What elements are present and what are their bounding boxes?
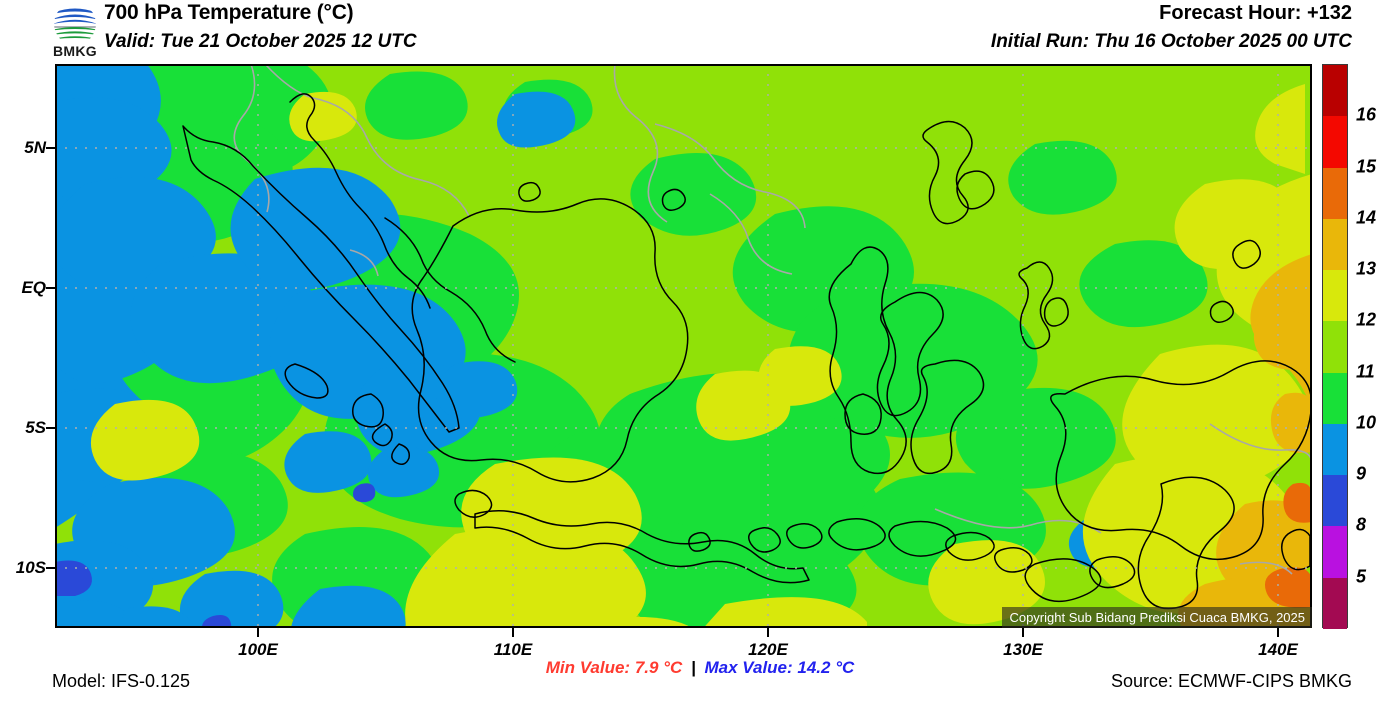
colorbar[interactable] <box>1322 64 1348 628</box>
model-label: Model: IFS-0.125 <box>52 671 190 692</box>
x-tick-140e <box>1277 628 1279 637</box>
colorbar-label-15: 15 <box>1356 156 1376 177</box>
y-tick-5s <box>46 427 55 429</box>
y-tick-label-eq: EQ <box>0 278 46 298</box>
bmkg-logo-icon <box>44 2 106 48</box>
y-tick-10s <box>46 567 55 569</box>
colorbar-label-13: 13 <box>1356 259 1376 280</box>
max-value-label: Max Value: 14.2 °C <box>704 658 854 677</box>
colorbar-band-12-13 <box>1323 270 1347 321</box>
colorbar-band-11-12 <box>1323 321 1347 372</box>
x-tick-label-110e: 110E <box>494 640 532 660</box>
colorbar-label-5: 5 <box>1356 566 1366 587</box>
bmkg-logo-label: BMKG <box>44 43 106 59</box>
min-max-separator: | <box>687 658 700 677</box>
colorbar-label-9: 9 <box>1356 464 1366 485</box>
colorbar-label-8: 8 <box>1356 515 1366 536</box>
colorbar-band-8-9 <box>1323 475 1347 526</box>
x-tick-label-100e: 100E <box>238 640 278 660</box>
colorbar-band-13-14 <box>1323 219 1347 270</box>
copyright-overlay: Copyright Sub Bidang Prediksi Cuaca BMKG… <box>1002 607 1312 628</box>
colorbar-band-10-11 <box>1323 373 1347 424</box>
colorbar-band-9-10 <box>1323 424 1347 475</box>
bmkg-logo: BMKG <box>44 2 106 58</box>
min-max-values: Min Value: 7.9 °C | Max Value: 14.2 °C <box>546 658 855 678</box>
colorbar-band-16-17 <box>1323 65 1347 116</box>
initial-run-label: Initial Run: Thu 16 October 2025 00 UTC <box>991 31 1352 53</box>
page-title: 700 hPa Temperature (°C) <box>104 1 353 25</box>
y-tick-label-5s: 5S <box>0 418 46 438</box>
y-tick-5n <box>46 147 55 149</box>
x-tick-120e <box>767 628 769 637</box>
colorbar-band-14-15 <box>1323 168 1347 219</box>
map-plot-area[interactable]: Copyright Sub Bidang Prediksi Cuaca BMKG… <box>55 64 1312 628</box>
forecast-hour-label: Forecast Hour: +132 <box>1159 2 1352 25</box>
colorbar-band-15-16 <box>1323 116 1347 167</box>
x-tick-130e <box>1022 628 1024 637</box>
x-tick-label-130e: 130E <box>1003 640 1043 660</box>
min-value-label: Min Value: 7.9 °C <box>546 658 683 677</box>
colorbar-label-11: 11 <box>1356 361 1375 382</box>
y-tick-eq <box>46 287 55 289</box>
colorbar-band-5-8 <box>1323 526 1347 577</box>
header: BMKG 700 hPa Temperature (°C) Valid: Tue… <box>0 0 1400 60</box>
y-tick-label-5n: 5N <box>0 138 46 158</box>
x-tick-label-140e: 140E <box>1258 640 1298 660</box>
colorbar-band-3-5 <box>1323 578 1347 629</box>
x-tick-110e <box>512 628 514 637</box>
valid-time-label: Valid: Tue 21 October 2025 12 UTC <box>104 31 417 53</box>
x-tick-100e <box>257 628 259 637</box>
colorbar-label-12: 12 <box>1356 310 1376 331</box>
source-label: Source: ECMWF-CIPS BMKG <box>1111 671 1352 692</box>
colorbar-label-14: 14 <box>1356 207 1376 228</box>
x-tick-label-120e: 120E <box>748 640 788 660</box>
colorbar-label-16: 16 <box>1356 105 1376 126</box>
colorbar-label-10: 10 <box>1356 412 1376 433</box>
y-tick-label-10s: 10S <box>0 558 46 578</box>
temperature-contour-map <box>55 64 1312 628</box>
